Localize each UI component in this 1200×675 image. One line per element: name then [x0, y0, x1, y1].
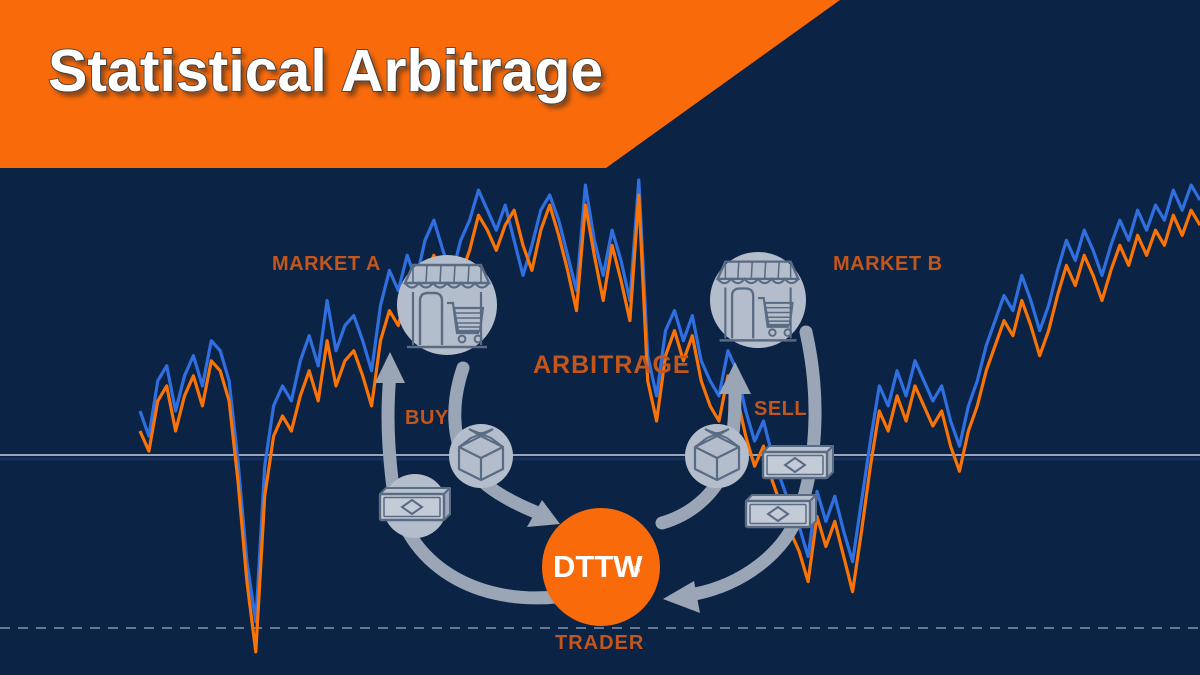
infographic-canvas: Statistical Arbitrage MARKET A MARKET B … — [0, 0, 1200, 675]
page-title: Statistical Arbitrage — [48, 42, 603, 101]
dttw-registered-icon: ® — [632, 565, 640, 577]
label-market-b: MARKET B — [833, 253, 943, 276]
label-sell: SELL — [754, 398, 807, 421]
label-market-a: MARKET A — [272, 253, 381, 276]
label-arbitrage: ARBITRAGE — [533, 351, 691, 380]
dttw-logo-text: DTTW — [553, 549, 643, 585]
label-trader: TRADER — [555, 632, 644, 655]
label-buy: BUY — [405, 407, 449, 430]
